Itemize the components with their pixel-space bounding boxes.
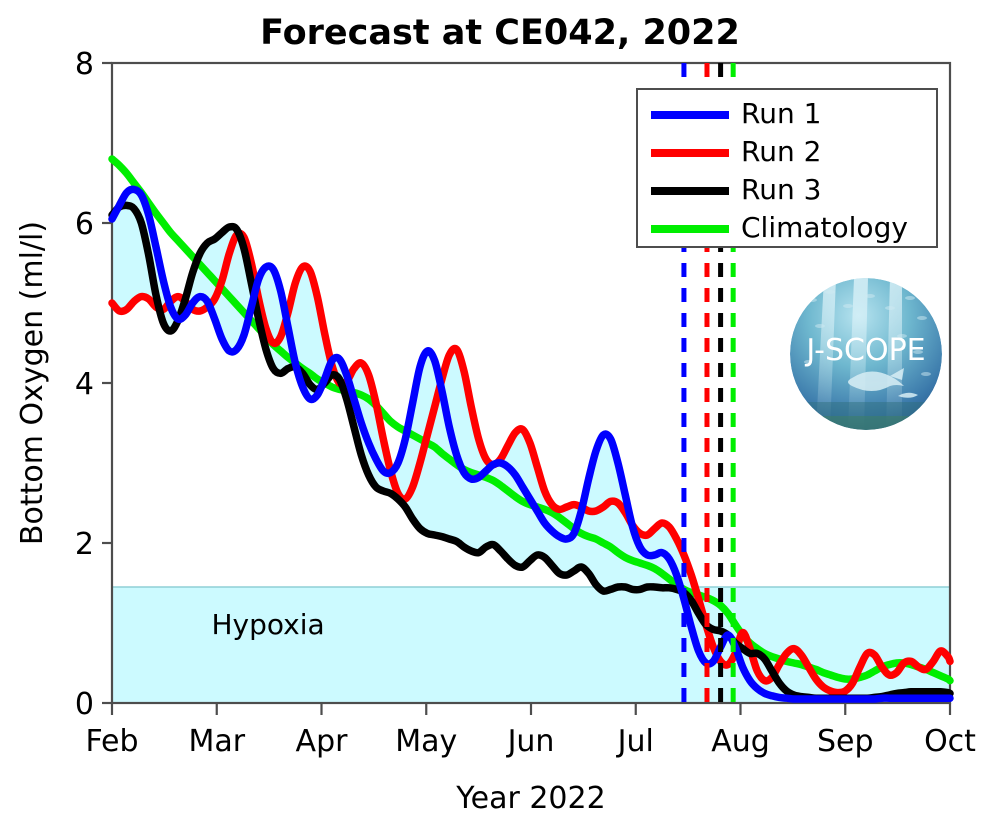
y-axis-label: Bottom Oxygen (ml/l) <box>15 221 50 545</box>
x-tick-label-Oct: Oct <box>924 724 976 759</box>
legend[interactable]: Run 1Run 2Run 3Climatology <box>637 89 937 247</box>
y-tick-label-8: 8 <box>75 47 94 82</box>
chart-title: Forecast at CE042, 2022 <box>260 13 740 53</box>
y-tick-label-2: 2 <box>75 527 94 562</box>
legend-label-run-1[interactable]: Run 1 <box>741 97 821 130</box>
j-scope-logo: J-SCOPE <box>790 278 942 430</box>
x-tick-label-Jul: Jul <box>616 724 654 759</box>
y-tick-label-6: 6 <box>75 207 94 242</box>
y-tick-label-0: 0 <box>75 687 94 722</box>
legend-label-run-2[interactable]: Run 2 <box>741 135 821 168</box>
y-tick-label-4: 4 <box>75 367 94 402</box>
forecast-figure: 02468 FebMarAprMayJunJulAugSepOct Hypoxi… <box>0 0 1000 830</box>
y-axis-ticks: 02468 <box>75 47 112 722</box>
logo-text: J-SCOPE <box>804 333 925 368</box>
legend-label-run-3[interactable]: Run 3 <box>741 173 821 206</box>
x-tick-label-Jun: Jun <box>506 724 555 759</box>
hypoxia-label: Hypoxia <box>212 608 325 641</box>
x-tick-label-Sep: Sep <box>817 724 874 759</box>
x-tick-label-Aug: Aug <box>711 724 770 759</box>
j-scope-logo-graphic: J-SCOPE <box>790 278 942 430</box>
x-axis-label: Year 2022 <box>455 781 605 816</box>
x-tick-label-Apr: Apr <box>296 724 349 759</box>
x-tick-label-May: May <box>395 724 457 759</box>
x-tick-label-Feb: Feb <box>85 724 138 759</box>
legend-label-climatology[interactable]: Climatology <box>741 211 908 244</box>
x-tick-label-Mar: Mar <box>188 724 245 759</box>
x-axis-ticks: FebMarAprMayJunJulAugSepOct <box>85 703 976 759</box>
